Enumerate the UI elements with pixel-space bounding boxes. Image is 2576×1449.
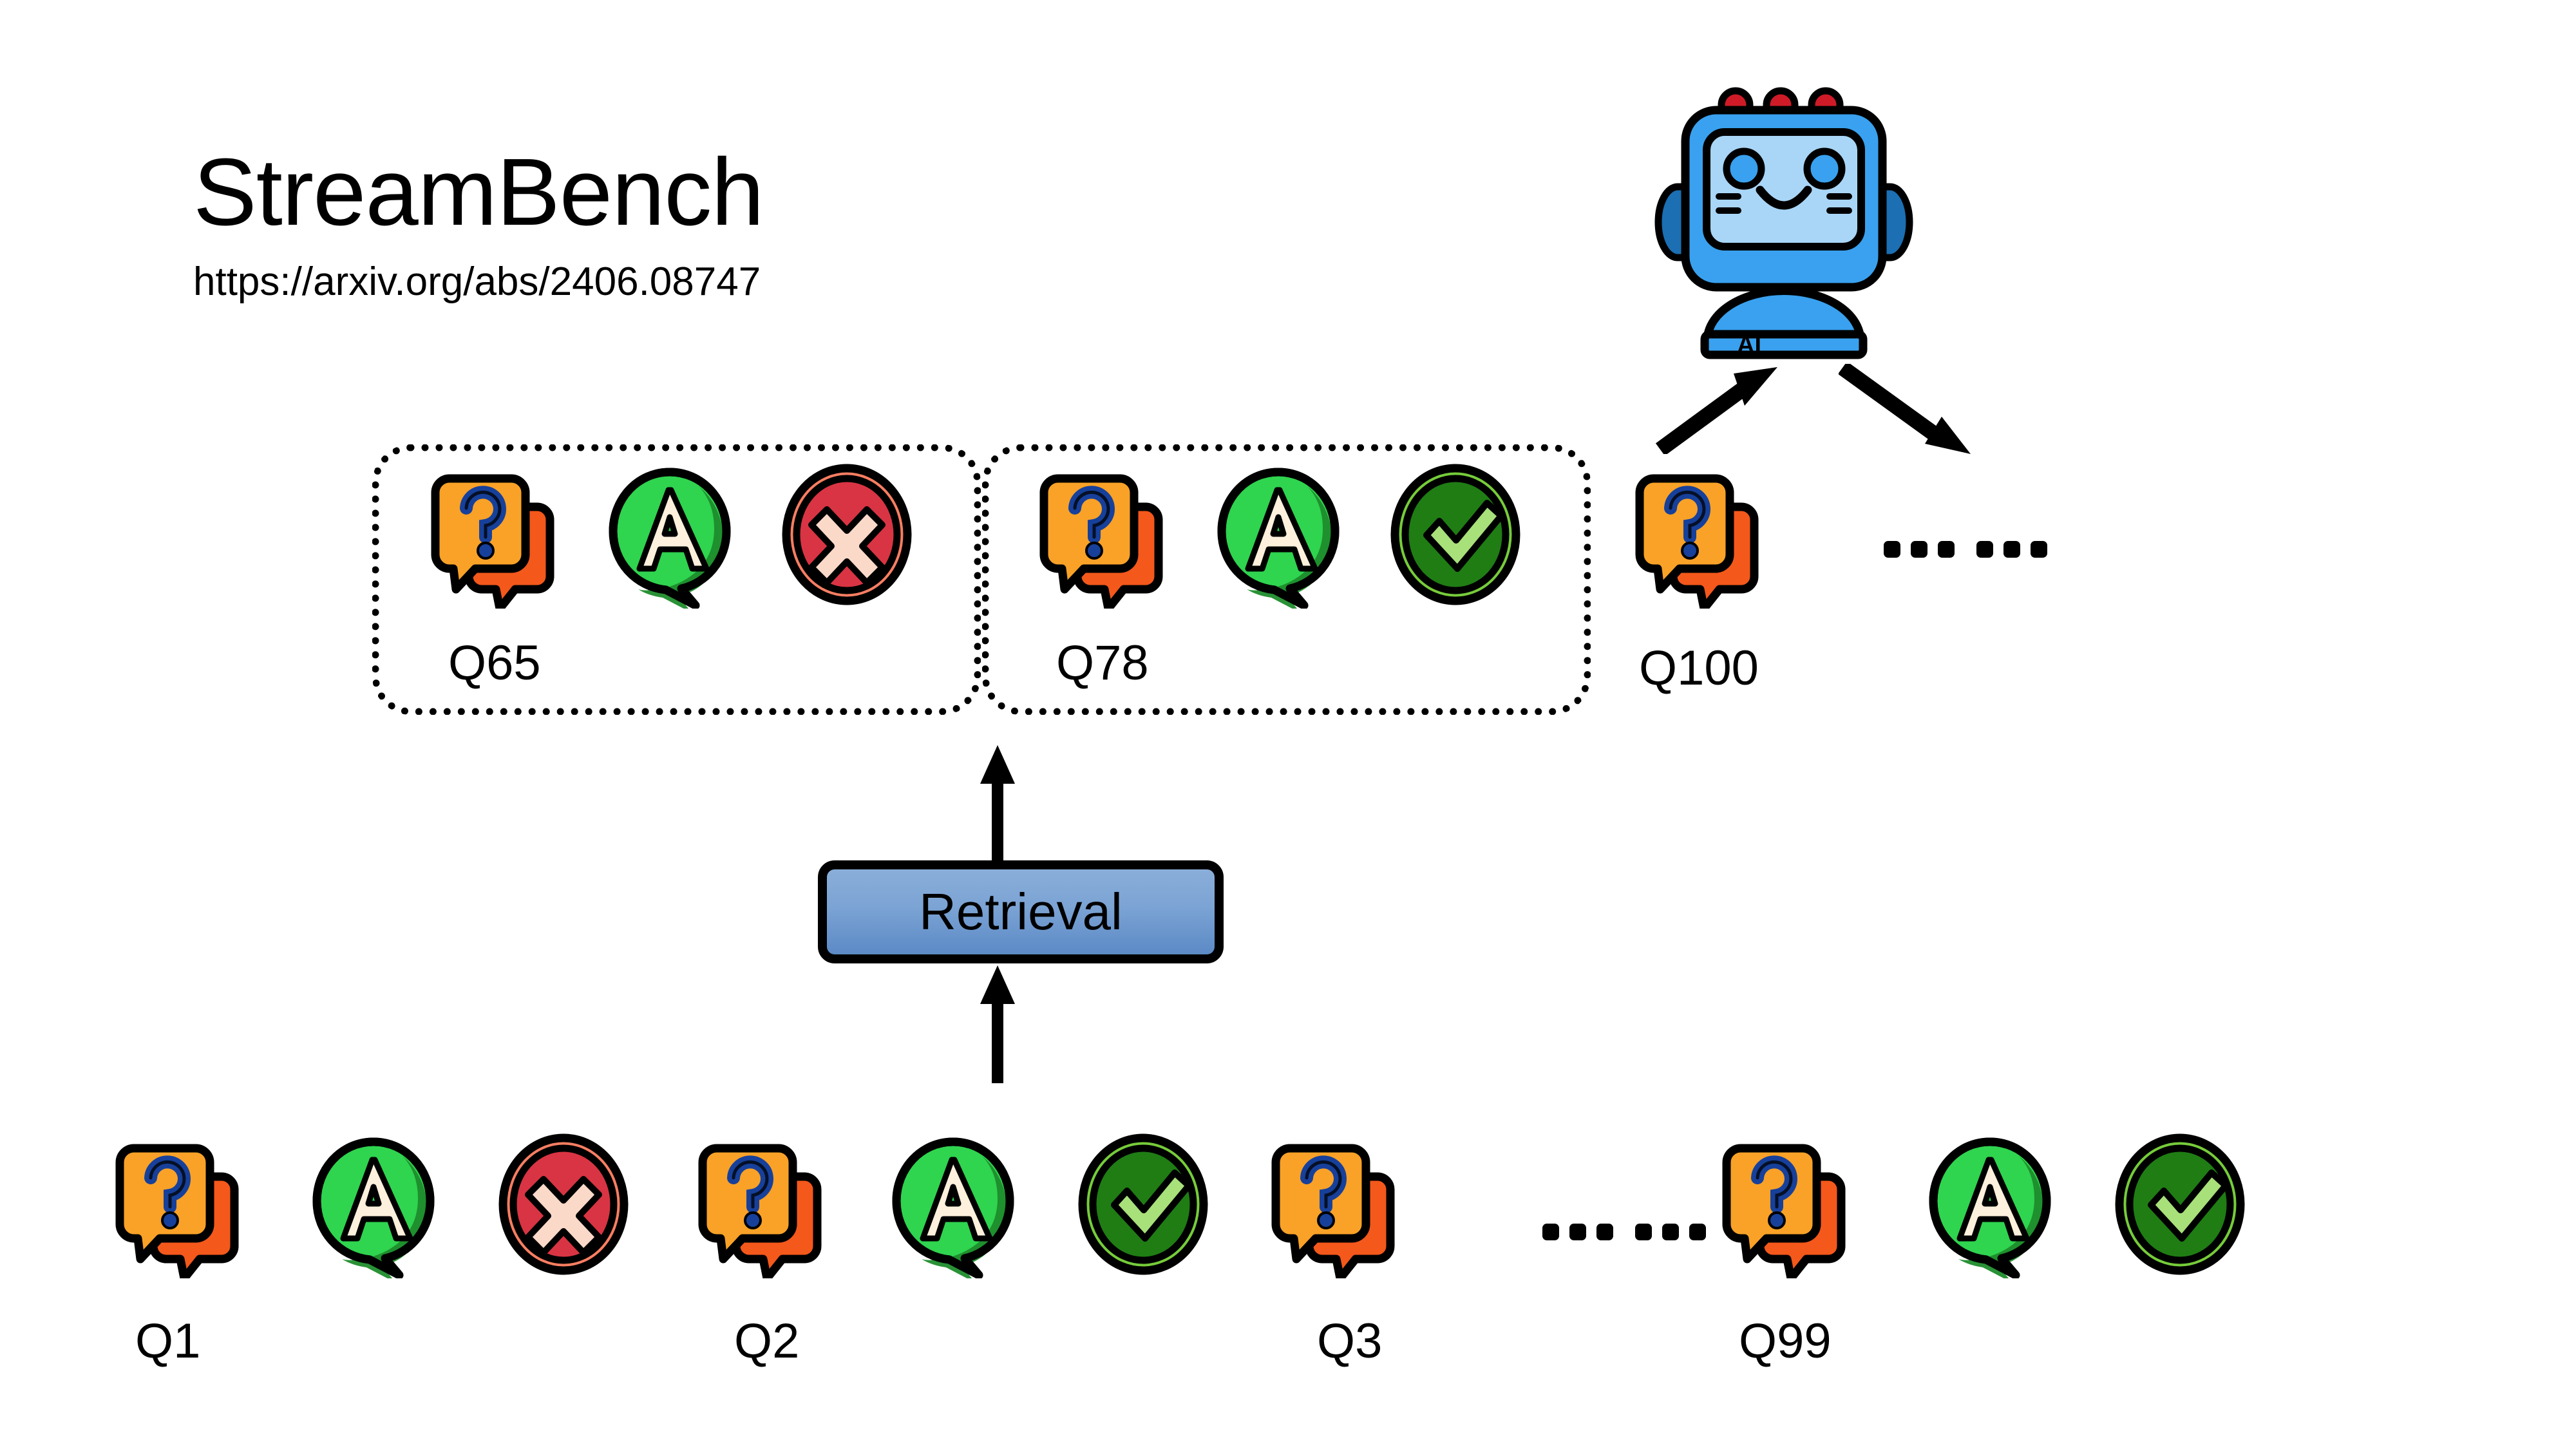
- diagram-canvas: StreamBench https://arxiv.org/abs/2406.0…: [0, 0, 2576, 1449]
- stream-row-ellipsis: [1542, 1224, 1706, 1240]
- title-block: StreamBench https://arxiv.org/abs/2406.0…: [193, 145, 1095, 302]
- answer-bubble-icon: [1204, 460, 1352, 609]
- answer-bubble-icon: [1916, 1130, 2064, 1278]
- correct-check-icon: [2106, 1130, 2254, 1278]
- page-title: StreamBench: [193, 145, 1095, 240]
- correct-check-icon: [1381, 460, 1529, 609]
- question-bubble-icon: [419, 460, 567, 609]
- question-bubble-icon: [1623, 460, 1771, 609]
- retrieval-node[interactable]: Retrieval: [818, 860, 1224, 963]
- question-bubble-icon: [1710, 1130, 1858, 1278]
- arrow-from-robot: [1839, 364, 1977, 457]
- stream-group-label: Q1: [135, 1317, 200, 1366]
- question-bubble-icon: [1027, 460, 1175, 609]
- ai-robot-icon: AI: [1652, 68, 1916, 367]
- question-bubble-icon: [1259, 1130, 1407, 1278]
- incorrect-cross-icon: [773, 460, 921, 609]
- question-bubble-icon: [686, 1130, 834, 1278]
- stream-group-label: Q2: [734, 1317, 799, 1366]
- memory-row-ellipsis: [1884, 541, 2047, 558]
- correct-check-icon: [1069, 1130, 1217, 1278]
- paper-url: https://arxiv.org/abs/2406.08747: [193, 262, 1095, 302]
- incorrect-cross-icon: [489, 1130, 638, 1278]
- retrieval-label: Retrieval: [919, 886, 1122, 938]
- answer-bubble-icon: [879, 1130, 1027, 1278]
- stream-group-label: Q99: [1739, 1317, 1832, 1366]
- answer-bubble-icon: [596, 460, 744, 609]
- arrow-to-robot: [1655, 367, 1784, 454]
- svg-text:AI: AI: [1737, 332, 1761, 359]
- memory-pending-label: Q100: [1639, 644, 1759, 693]
- stream-group-label: Q3: [1317, 1317, 1382, 1366]
- answer-bubble-icon: [299, 1130, 448, 1278]
- memory-group-label: Q65: [448, 639, 541, 688]
- arrow-stream-to-retrieval: [978, 964, 1018, 1083]
- arrow-retrieval-to-memory: [978, 744, 1018, 863]
- memory-group-label: Q78: [1056, 639, 1149, 688]
- question-bubble-icon: [103, 1130, 251, 1278]
